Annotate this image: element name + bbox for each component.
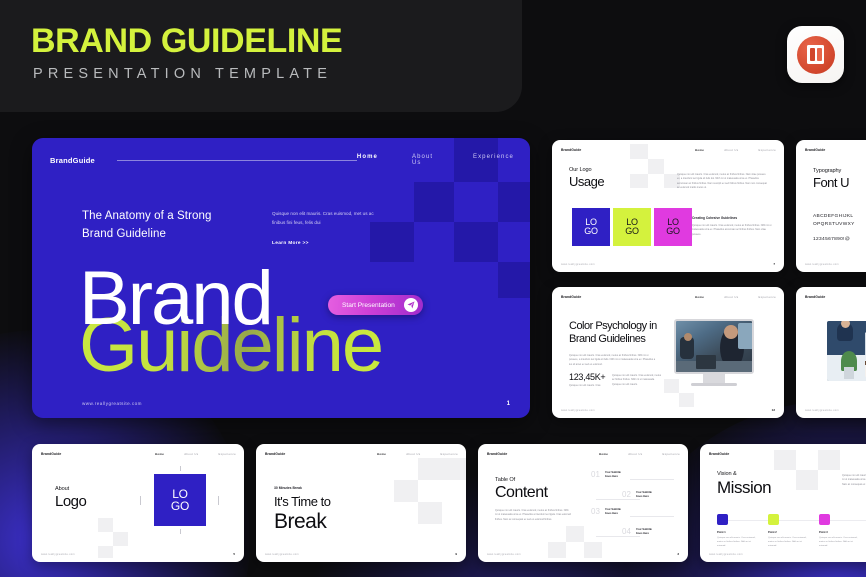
about-logo-swatch-line2: GO <box>171 500 189 512</box>
about-logo-page-number: 5 <box>233 552 235 556</box>
color-psychology-nav-item-experience[interactable]: Experience <box>759 295 777 299</box>
vision-mission-chip-1-title: Point 1 <box>717 531 726 534</box>
logo-usage-nav: BrandGuide Home About Us Experience <box>561 148 776 152</box>
about-logo-logo[interactable]: BrandGuide <box>41 452 61 456</box>
about-logo-nav-item-home[interactable]: Home <box>155 452 164 456</box>
toc-page-number: 3 <box>677 552 679 556</box>
break-footer-url: www.reallygreatsite.com <box>265 553 299 556</box>
toc-body: Quisque non elit mauris. Cras euismod, m… <box>495 509 571 522</box>
logo-swatch-lime: LO GO <box>613 208 651 246</box>
toc-item-01-number: 01 <box>591 471 600 479</box>
logo-swatch-blue: LO GO <box>572 208 610 246</box>
color-psychology-page-number: 12 <box>772 408 775 412</box>
hero-nav-divider <box>117 160 357 161</box>
vision-mission-chip-3-title: Point 3 <box>819 531 828 534</box>
hero-heading-line1: The Anatomy of a Strong <box>82 208 212 226</box>
break-nav-item-experience[interactable]: Experience <box>441 452 459 456</box>
hero-nav: BrandGuide Home About Us Experience <box>50 154 514 166</box>
monitor-stand <box>703 374 725 383</box>
toc-title: Content <box>495 485 571 501</box>
logo-usage-logo[interactable]: BrandGuide <box>561 148 581 152</box>
toc-item-03-number: 03 <box>591 508 600 516</box>
logo-usage-footer-url: www.reallygreatsite.com <box>561 263 595 266</box>
break-nav-item-home[interactable]: Home <box>377 452 386 456</box>
typography-title: Font U <box>813 176 849 189</box>
hero-heading-line2: Brand Guideline <box>82 226 212 244</box>
about-logo-nav-item-experience[interactable]: Experience <box>219 452 237 456</box>
toc-logo[interactable]: BrandGuide <box>487 452 507 456</box>
break-nav-item-about[interactable]: About Us <box>406 452 420 456</box>
color-psychology-footer-url: www.reallygreatsite.com <box>561 409 595 412</box>
typography-nav: BrandGuide <box>805 148 866 152</box>
break-title-line1: It's Time to <box>274 495 330 508</box>
toc-item-02[interactable]: 02 Your Subtitle Goes Here <box>622 491 652 500</box>
powerpoint-icon[interactable] <box>787 26 844 83</box>
thumbnail-vision-mission[interactable]: BrandGuide Home Vision & Mission Quisque… <box>700 444 866 562</box>
vision-mission-chip-1-body: Quisque non elit mauris. Cras euismod, m… <box>717 537 759 549</box>
toc-nav-item-about[interactable]: About Us <box>628 452 642 456</box>
toc-item-04-number: 04 <box>622 528 631 536</box>
logo-swatch-lime-line2: GO <box>625 227 639 236</box>
hero-nav-item-home[interactable]: Home <box>357 154 378 166</box>
thumbnail-table-of-content[interactable]: BrandGuide Home About Us Experience Tabl… <box>478 444 688 562</box>
color-psychology-title-line2: Brand Guidelines <box>569 333 669 346</box>
logo-usage-title: Usage <box>569 175 604 188</box>
logo-swatch-magenta-line2: GO <box>666 227 680 236</box>
about-logo-nav: BrandGuide Home About Us Experience <box>41 452 236 456</box>
hero-page-number: 1 <box>507 401 510 407</box>
about-logo-eyebrow: About <box>55 486 86 492</box>
typography-footer-url: www.reallygreatsite.com <box>805 263 839 266</box>
vision-mission-chip-1 <box>717 514 728 525</box>
color-psychology-stat-body: Quisque non elit mauris. Cras euismod, m… <box>612 374 662 387</box>
hero-logo[interactable]: BrandGuide <box>50 156 95 165</box>
logo-usage-nav-item-experience[interactable]: Experience <box>759 148 777 152</box>
about-logo-footer-url: www.reallygreatsite.com <box>41 553 75 556</box>
screenshot-root: BRAND GUIDELINE PRESENTATION TEMPLATE Br… <box>0 0 866 577</box>
color-psychology-stat-value: 123,45K+ <box>569 372 611 382</box>
toc-item-03[interactable]: 03 Your Subtitle Goes Here <box>591 508 621 517</box>
thumbnail-break[interactable]: BrandGuide Home About Us Experience 30 M… <box>256 444 466 562</box>
vision-mission-nav: BrandGuide Home <box>709 452 866 456</box>
break-nav: BrandGuide Home About Us Experience <box>265 452 458 456</box>
start-presentation-label: Start Presentation <box>342 302 395 309</box>
thumbnail-logo-usage[interactable]: BrandGuide Home About Us Experience Our … <box>552 140 784 272</box>
break-eyebrow: 30 Minutes Break <box>274 486 330 490</box>
break-title-line2: Break <box>274 511 330 532</box>
break-page-number: 9 <box>455 552 457 556</box>
page-header: BRAND GUIDELINE PRESENTATION TEMPLATE <box>0 0 522 112</box>
laptop-logo[interactable]: BrandGuide <box>805 295 825 299</box>
hero-nav-links: Home About Us Experience <box>357 154 514 166</box>
send-icon <box>404 298 418 312</box>
color-psychology-logo[interactable]: BrandGuide <box>561 295 581 299</box>
about-logo-title: Logo <box>55 494 86 509</box>
laptop-footer-url: www.reallygreatsite.com <box>805 409 839 412</box>
hero-title-white: Brand <box>79 266 272 333</box>
vision-mission-logo[interactable]: BrandGuide <box>709 452 729 456</box>
toc-item-04[interactable]: 04 Your Subtitle Goes Here <box>622 528 652 537</box>
typography-eyebrow: Typography <box>813 168 849 174</box>
vision-mission-chip-2 <box>768 514 779 525</box>
thumbnail-color-psychology[interactable]: BrandGuide Home About Us Experience Colo… <box>552 287 784 418</box>
logo-usage-nav-item-home[interactable]: Home <box>695 148 704 152</box>
page-subtitle: PRESENTATION TEMPLATE <box>33 66 332 82</box>
color-psychology-title-line1: Color Psychology in <box>569 320 669 333</box>
logo-usage-side-body: Quisque non elit mauris. Cras euismod, m… <box>692 224 772 237</box>
thumbnail-typography[interactable]: BrandGuide Typography Font U ABCDEFGHIJK… <box>796 140 866 272</box>
toc-nav: BrandGuide Home About Us Experience <box>487 452 680 456</box>
logo-usage-page-number: 7 <box>773 262 775 266</box>
hero-learn-more-link[interactable]: Learn More >> <box>272 241 309 246</box>
color-psychology-body: Quisque non elit mauris. Cras euismod, m… <box>569 354 657 367</box>
typography-numerals: 1234567890!@ <box>813 236 855 244</box>
logo-usage-nav-item-about[interactable]: About Us <box>724 148 738 152</box>
laptop-desk-photo <box>827 321 866 381</box>
toc-item-02-label: Your Subtitle Goes Here <box>636 491 652 500</box>
vision-mission-eyebrow: Vision & <box>717 471 771 477</box>
logo-usage-side-title: Creating Cohesive Guidelines <box>692 216 772 220</box>
page-title: BRAND GUIDELINE <box>31 22 342 61</box>
toc-nav-item-experience[interactable]: Experience <box>663 452 681 456</box>
color-psychology-stat-caption: Quisque non elit mauris. Cras <box>569 384 611 388</box>
typography-alphabet-upper: ABCDEFGHIJKL <box>813 213 855 221</box>
hero-nav-item-about[interactable]: About Us <box>412 154 439 166</box>
laptop-nav: BrandGuide <box>805 295 866 299</box>
logo-usage-eyebrow: Our Logo <box>569 167 604 173</box>
toc-nav-links: Home About Us Experience <box>599 452 680 456</box>
color-psychology-monitor-image <box>674 319 754 386</box>
break-logo[interactable]: BrandGuide <box>265 452 285 456</box>
powerpoint-circle <box>797 36 835 74</box>
color-psychology-nav-item-home[interactable]: Home <box>695 295 704 299</box>
about-logo-nav-links: Home About Us Experience <box>155 452 236 456</box>
thumbnail-laptop[interactable]: BrandGuide www.reallygreatsite.com <box>796 287 866 418</box>
color-psychology-nav: BrandGuide Home About Us Experience <box>561 295 776 299</box>
vision-mission-chip-3 <box>819 514 830 525</box>
logo-usage-body: Quisque non elit mauris. Cras euismod, m… <box>677 173 769 191</box>
toc-item-02-number: 02 <box>622 491 631 499</box>
hero-slide-preview[interactable]: BrandGuide Home About Us Experience The … <box>32 138 530 418</box>
toc-item-01-label: Your Subtitle Goes Here <box>605 471 621 480</box>
break-nav-links: Home About Us Experience <box>377 452 458 456</box>
thumbnail-about-logo[interactable]: BrandGuide Home About Us Experience Abou… <box>32 444 244 562</box>
vision-mission-chip-2-title: Point 2 <box>768 531 777 534</box>
typography-logo[interactable]: BrandGuide <box>805 148 825 152</box>
logo-swatch-blue-line2: GO <box>584 227 598 236</box>
toc-footer-url: www.reallygreatsite.com <box>487 553 521 556</box>
monitor-base <box>691 383 737 386</box>
toc-eyebrow: Table Of <box>495 477 571 483</box>
color-psychology-nav-links: Home About Us Experience <box>695 295 776 299</box>
about-logo-swatch: LO GO <box>154 474 206 526</box>
hero-footer-url: www.reallygreatsite.com <box>82 401 142 406</box>
toc-item-01[interactable]: 01 Your Subtitle Goes Here <box>591 471 621 480</box>
toc-item-03-label: Your Subtitle Goes Here <box>605 508 621 517</box>
vision-mission-chip-3-body: Quisque non elit mauris. Cras euismod, m… <box>819 537 861 549</box>
vision-mission-footer-url: www.reallygreatsite.com <box>709 553 743 556</box>
typography-alphabet-lower: OPQRSTUVWXY <box>813 221 855 229</box>
about-logo-nav-item-about[interactable]: About Us <box>184 452 198 456</box>
start-presentation-button[interactable]: Start Presentation <box>328 295 423 315</box>
hero-body-text: Quisque non elit mauris. Cras euismod, m… <box>272 210 380 228</box>
color-psychology-nav-item-about[interactable]: About Us <box>724 295 738 299</box>
toc-nav-item-home[interactable]: Home <box>599 452 608 456</box>
hero-nav-item-experience[interactable]: Experience <box>473 154 514 166</box>
powerpoint-glyph <box>807 45 824 64</box>
vision-mission-body: Quisque non elit mauris. Cras euismod, m… <box>842 474 866 487</box>
hero-heading: The Anatomy of a Strong Brand Guideline <box>82 208 212 244</box>
vision-mission-title: Mission <box>717 479 771 496</box>
logo-usage-nav-links: Home About Us Experience <box>695 148 776 152</box>
logo-swatch-magenta: LO GO <box>654 208 692 246</box>
monitor-screen <box>674 319 754 374</box>
toc-item-04-label: Your Subtitle Goes Here <box>636 528 652 537</box>
vision-mission-chip-2-body: Quisque non elit mauris. Cras euismod, m… <box>768 537 810 549</box>
